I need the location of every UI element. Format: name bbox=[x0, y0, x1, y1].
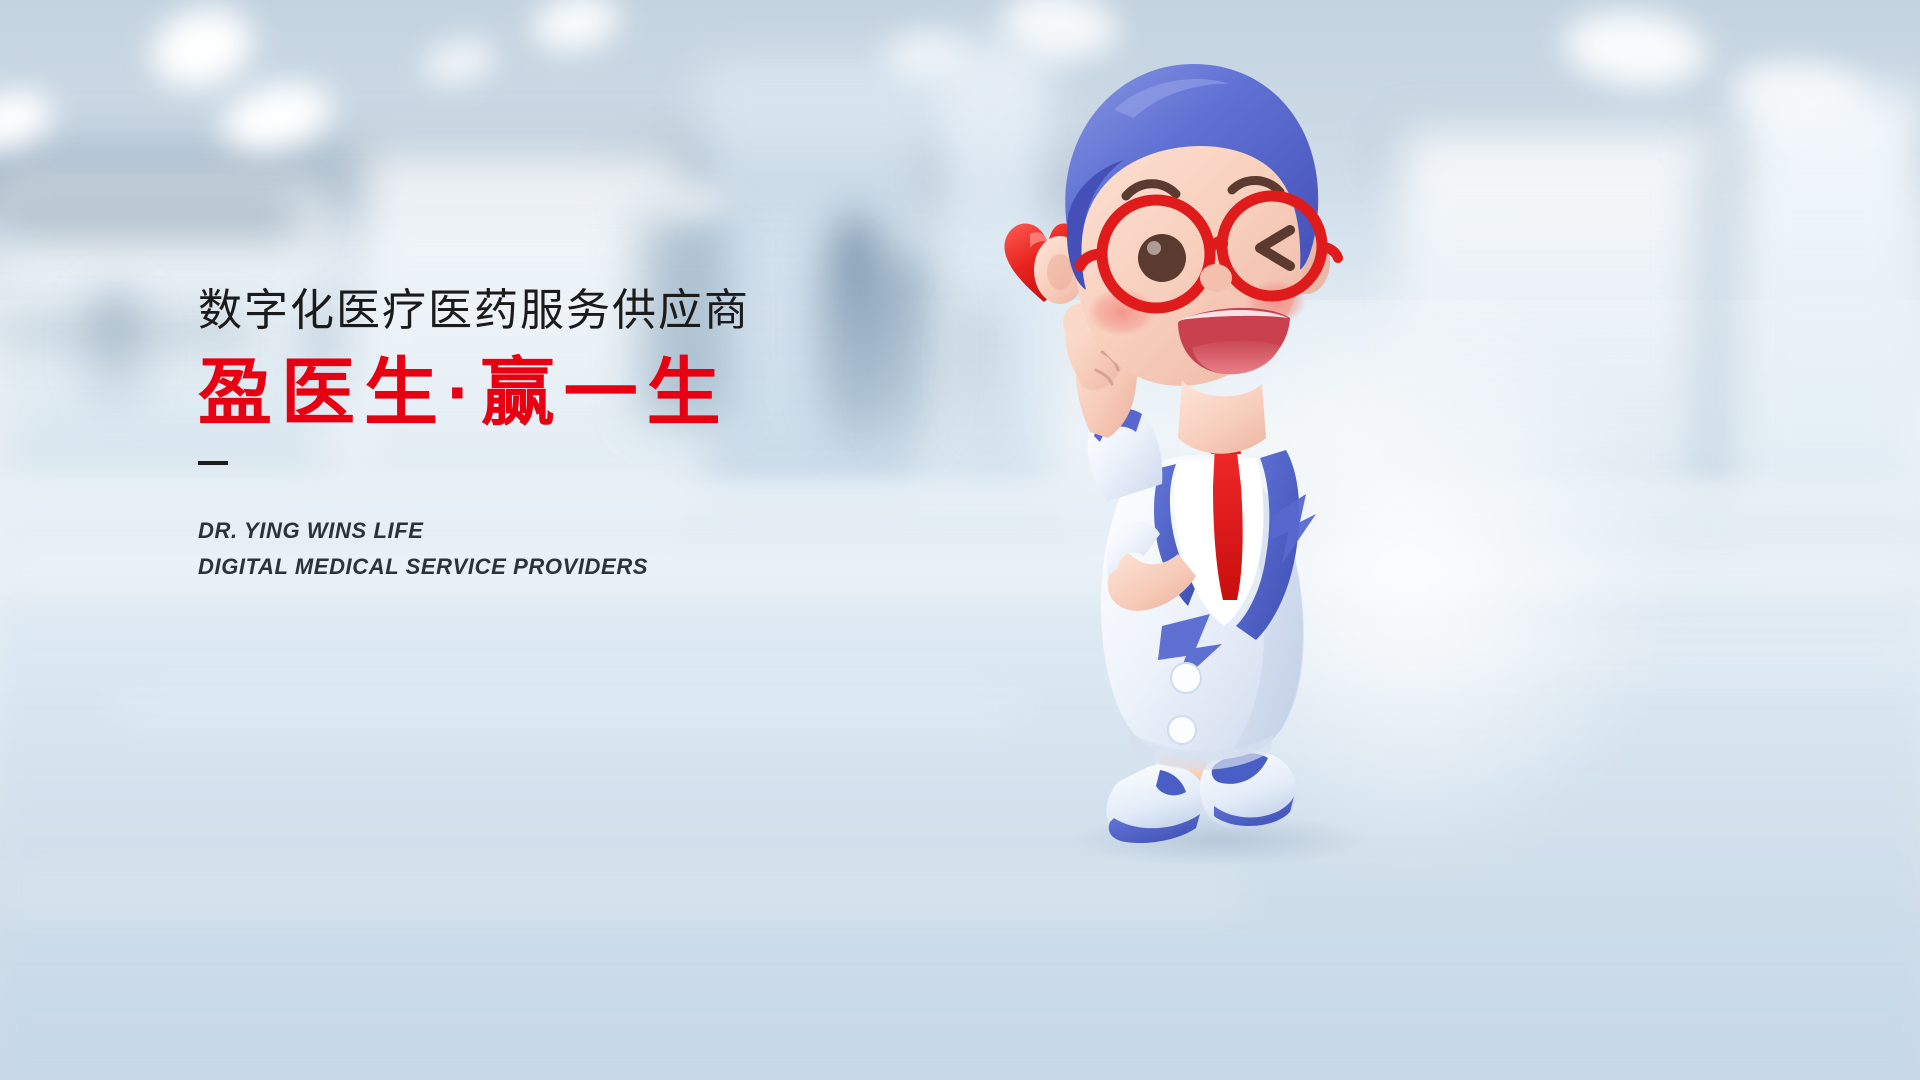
blurred-person-silhouette bbox=[85, 290, 145, 410]
eye-open bbox=[1138, 234, 1186, 282]
background-panel bbox=[0, 200, 300, 234]
hero-banner: 数字化医疗医药服务供应商 盈医生·赢一生 DR. YING WINS LIFE … bbox=[0, 0, 1920, 1080]
doctor-mascot-illustration bbox=[1010, 40, 1430, 860]
ceiling-light-bokeh bbox=[660, 180, 730, 220]
banner-subtitle-english: DR. YING WINS LIFE DIGITAL MEDICAL SERVI… bbox=[198, 513, 838, 584]
subtitle-line-2: DIGITAL MEDICAL SERVICE PROVIDERS bbox=[198, 549, 838, 585]
coat-button bbox=[1168, 716, 1196, 744]
nose bbox=[1200, 264, 1232, 292]
divider-rule bbox=[198, 461, 228, 465]
ceiling-light-bokeh bbox=[880, 30, 964, 80]
banner-headline-chinese: 数字化医疗医药服务供应商 bbox=[198, 286, 838, 335]
blurred-person-silhouette bbox=[960, 300, 1000, 440]
floor-reflection bbox=[120, 700, 1020, 718]
blurred-person-silhouette bbox=[880, 250, 938, 450]
coat-button bbox=[1171, 663, 1201, 693]
subtitle-line-1: DR. YING WINS LIFE bbox=[198, 513, 838, 549]
floor-reflection bbox=[0, 880, 1240, 910]
banner-slogan-chinese: 盈医生·赢一生 bbox=[198, 353, 838, 433]
banner-copy-block: 数字化医疗医药服务供应商 盈医生·赢一生 DR. YING WINS LIFE … bbox=[198, 286, 838, 584]
